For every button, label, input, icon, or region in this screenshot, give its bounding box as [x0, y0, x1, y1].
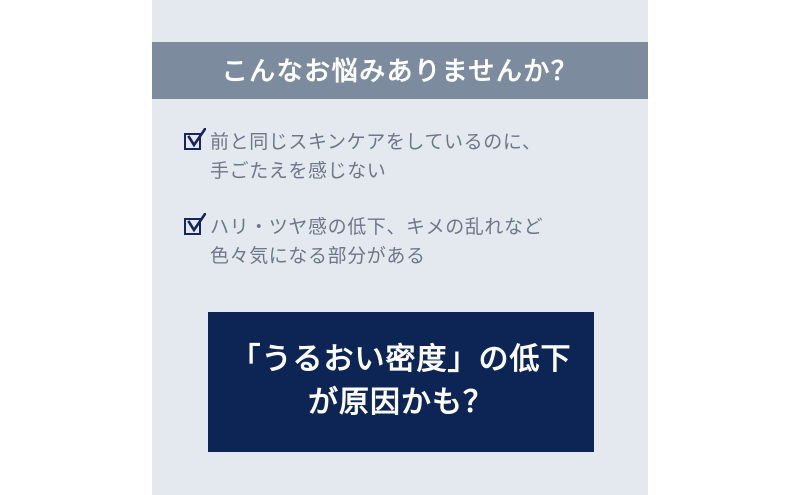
list-item-line: 手ごたえを感じない [210, 157, 542, 186]
page-title: こんなお悩みありませんか？ [222, 58, 579, 84]
callout-line: 「うるおい密度」の低下 [231, 339, 572, 382]
list-item-line: ハリ・ツヤ感の低下、キメの乱れなど [210, 213, 543, 242]
conclusion-callout: 「うるおい密度」の低下 が原因かも？ [208, 312, 594, 452]
checked-checkbox-icon [183, 213, 207, 239]
list-item: ハリ・ツヤ感の低下、キメの乱れなど 色々気になる部分がある [183, 213, 633, 272]
callout-line: が原因かも？ [308, 382, 494, 425]
list-item-line: 前と同じスキンケアをしているのに、 [210, 128, 542, 157]
promo-graphic: こんなお悩みありませんか？ 前と同じスキンケアをしているのに、 手ごたえを感じな… [0, 0, 800, 495]
list-item-text: ハリ・ツヤ感の低下、キメの乱れなど 色々気になる部分がある [210, 213, 543, 272]
list-item-text: 前と同じスキンケアをしているのに、 手ごたえを感じない [210, 128, 542, 187]
concerns-checklist: 前と同じスキンケアをしているのに、 手ごたえを感じない ハリ・ツヤ感の低下、キメ… [183, 128, 633, 298]
list-item-line: 色々気になる部分がある [210, 242, 543, 271]
section-header-band: こんなお悩みありませんか？ [152, 42, 648, 99]
checked-checkbox-icon [183, 128, 207, 154]
list-item: 前と同じスキンケアをしているのに、 手ごたえを感じない [183, 128, 633, 187]
